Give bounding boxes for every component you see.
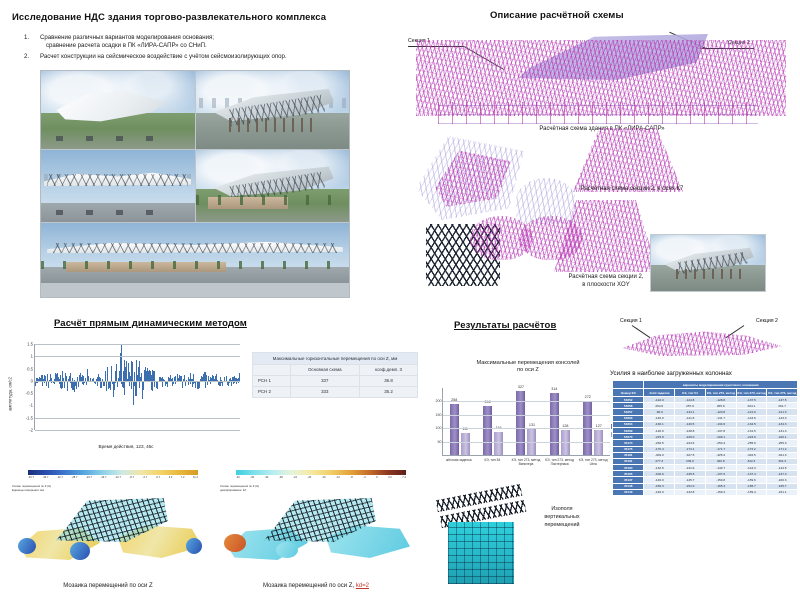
facade-lattice xyxy=(53,243,336,253)
row-label: РСН 2 xyxy=(253,386,291,397)
bullet-subtext: сравнение расчета осадки в ПК «ЛИРА-САПР… xyxy=(40,42,388,50)
mosaic-displacement-z: -40.7-36.7-32.7-28.7-24.7-16.7-12.7-8.7-… xyxy=(8,468,208,590)
accelerogram-chart: амплитуда, см/с2 1.510.50-0.5-1-1.5-2 Вр… xyxy=(8,340,244,452)
mosaic-displacement-z-kd2: -40-36-32-28-24-20-16-12-8-403.27.4 Схем… xyxy=(216,468,416,590)
bar-value-label: 131 xyxy=(529,423,535,427)
bar: 327 xyxy=(516,391,525,455)
category-label: КЭ, тип 273, метод Пастернака xyxy=(543,458,577,484)
waveform-bar xyxy=(239,373,240,380)
cantilever-displacement-chart: 258111248116327131314128272127 501001502… xyxy=(426,384,632,484)
facade-lattice xyxy=(47,174,188,186)
bar-chart-category-labels: жёсткая заделкаКЭ, тип 54КЭ, тип 273, ме… xyxy=(442,458,610,484)
list-item: 1. Сравнение различных вариантов моделир… xyxy=(24,34,388,50)
grid-line xyxy=(443,428,610,429)
section-displacement-mosaics: -40.7-36.7-32.7-28.7-24.7-16.7-12.7-8.7-… xyxy=(4,468,424,600)
cell-value: -143.8 xyxy=(675,489,706,495)
results-subtitle: Максимальные перемещения консолей по оси… xyxy=(428,360,628,375)
scale-tick-label: 0 xyxy=(376,476,377,481)
cell-value: -161.1 xyxy=(767,489,798,495)
y-axis-tick: -1 xyxy=(29,403,33,408)
bar-group: 314128 xyxy=(550,388,570,455)
bar: 116 xyxy=(494,432,503,455)
column-header: КЭ, тип 273, метод Винклера xyxy=(705,389,736,397)
y-axis-tick: 0.5 xyxy=(27,366,33,371)
cell-value: -159.4 xyxy=(736,489,767,495)
scale-tick-label: -40.7 xyxy=(28,476,34,481)
color-scale-bar xyxy=(236,470,406,475)
bigtable-title: Усилия в наиболее загруженных колоннах xyxy=(610,370,732,377)
bar: 111 xyxy=(461,433,470,455)
color-scale-ticks: -40.7-36.7-32.7-28.7-24.7-16.7-12.7-8.7-… xyxy=(28,476,198,481)
column-header-main-scheme: Основная схема xyxy=(290,364,360,375)
mosaic-caption-text: Мозаика перемещений по оси Z, xyxy=(263,583,356,589)
waveform-bar xyxy=(205,381,206,388)
table-row: 45140-146.0-143.8-159.4-159.4-161.1 xyxy=(613,489,798,495)
scale-tick-label: -36 xyxy=(250,476,254,481)
category-label: КЭ, тип 273, метод Винклера xyxy=(509,458,543,484)
table-row: РСН 2 333 35.2 xyxy=(253,386,418,397)
scale-tick-label: -4 xyxy=(363,476,365,481)
list-item: 2. Расчет конструкции на сейсмическое во… xyxy=(24,53,388,61)
bar-groups: 258111248116327131314128272127 xyxy=(443,388,610,455)
y-axis-tick: -2 xyxy=(29,428,33,433)
section-results: Результаты расчётов Секция 1 Секция 2 Ма… xyxy=(424,316,800,602)
bullet-number: 1. xyxy=(24,34,29,42)
plate-orange-zone xyxy=(224,534,246,552)
waveform-bar xyxy=(111,366,112,381)
bar-value-label: 327 xyxy=(518,385,524,389)
grid-line xyxy=(35,430,240,431)
waveform-bar xyxy=(76,381,77,389)
grid-line xyxy=(443,442,610,443)
scale-tick-label: -40 xyxy=(236,476,240,481)
waveform-bar xyxy=(67,381,68,389)
waveform-bar xyxy=(124,381,125,395)
plate-blue-zone-mid xyxy=(70,542,90,560)
scale-tick-label: -16.7 xyxy=(101,476,107,481)
scale-tick-label: -4.7 xyxy=(143,476,147,481)
waveform-bar xyxy=(64,381,65,388)
bar-group: 272127 xyxy=(583,388,603,455)
section-direct-dynamic-method: Расчёт прямым динамическим методом ампли… xyxy=(4,318,424,468)
column-forces-table: варианты моделирования грунтового основа… xyxy=(612,380,798,496)
accelerogram-ylabel: амплитуда, см/с2 xyxy=(8,377,13,411)
cell-value: -159.4 xyxy=(705,489,736,495)
table-header: Максимальные горизонтальные перемещения … xyxy=(253,353,418,365)
trees xyxy=(41,261,349,269)
bullet-text: Сравнение различных вариантов моделирова… xyxy=(40,34,214,41)
cell-value: 36.8 xyxy=(360,375,418,386)
scale-tick-label: -12.7 xyxy=(115,476,121,481)
table-row: РСН 1 337 36.8 xyxy=(253,375,418,386)
y-axis-tick: 1.5 xyxy=(27,342,33,347)
grid-line xyxy=(443,401,610,402)
bar-value-label: 272 xyxy=(585,395,591,399)
max-displacement-table: Максимальные горизонтальные перемещения … xyxy=(252,352,418,398)
support-piers xyxy=(676,269,742,279)
bar: 258 xyxy=(450,404,459,455)
plate-blue-zone-left xyxy=(18,538,36,554)
scale-tick-label: -12 xyxy=(336,476,340,481)
photo-building-realization xyxy=(650,234,766,292)
bar-chart-plot-area: 258111248116327131314128272127 501001502… xyxy=(442,388,610,456)
fem-foundation-grid xyxy=(438,102,758,124)
waveform-bar xyxy=(152,381,153,391)
bar-value-label: 314 xyxy=(551,387,557,391)
category-label: КЭ, тип 54 xyxy=(476,458,510,484)
waveform-bar xyxy=(107,367,108,381)
mosaic-render xyxy=(222,494,412,566)
waveform-bar xyxy=(123,381,124,388)
note-line-2: Единицы измерения: мм xyxy=(12,488,51,492)
section-b-title: Описание расчётной схемы xyxy=(490,10,624,21)
ground xyxy=(41,113,195,149)
scale-tick-label: 7.4 xyxy=(402,476,406,481)
bar-group: 248116 xyxy=(483,388,503,455)
table-body: 54652-122.0-124.8-128.8-137.5-137.554658… xyxy=(613,397,798,496)
row-id: 45140 xyxy=(613,489,644,495)
section-a-title: Исследование НДС здания торгово-развлека… xyxy=(12,12,326,23)
scale-tick-label: -28 xyxy=(279,476,283,481)
mosaic-render xyxy=(14,494,204,566)
waveform-bar xyxy=(121,345,122,381)
cars xyxy=(56,210,163,215)
row-label: РСН 1 xyxy=(253,375,291,386)
mosaic-note: Схема: перемещения по Z (G) Единицы изме… xyxy=(12,484,51,492)
scale-tick-label: 11.2 xyxy=(193,476,198,481)
render-street-view xyxy=(41,150,195,222)
cell-value: 337 xyxy=(290,375,360,386)
waveform-bar xyxy=(132,362,133,380)
objectives-list: 1. Сравнение различных вариантов моделир… xyxy=(24,34,388,65)
waveform-bar xyxy=(193,374,194,381)
mosaic-caption-kd: kd=2 xyxy=(356,583,369,589)
isopole-line-1: Изополя xyxy=(516,506,608,514)
y-axis-tick: 0 xyxy=(31,378,33,383)
grid-line xyxy=(443,415,610,416)
architectural-renders-grid xyxy=(40,70,350,298)
waveform-bar xyxy=(143,381,144,390)
waveform-bar xyxy=(70,373,71,380)
cars xyxy=(56,136,163,141)
accelerogram-plot-area: 1.510.50-0.5-1-1.5-2 xyxy=(34,344,240,430)
group-header: варианты моделирования грунтового основа… xyxy=(644,381,798,389)
render-plan-view xyxy=(41,71,195,149)
plate-blue-zone-right xyxy=(186,538,202,554)
isopole-vertical-block xyxy=(448,522,514,584)
corner-cell xyxy=(613,381,644,389)
waveform-bar xyxy=(154,371,155,381)
plate-cyan-zone xyxy=(276,542,298,558)
trees xyxy=(196,195,350,204)
bar-group: 258111 xyxy=(450,388,470,455)
scale-tick-label: -0.7 xyxy=(156,476,160,481)
render-cantilever-view xyxy=(196,150,350,222)
y-axis-tick: 200 xyxy=(436,399,442,403)
y-axis-tick: -0.5 xyxy=(26,391,33,396)
section-calculation-scheme: Описание расчётной схемы Секция 1 Секция… xyxy=(398,6,798,314)
scale-tick-label: -36.7 xyxy=(43,476,49,481)
column-header-damping: коэф.демп. 3 xyxy=(360,364,418,375)
cell-value: 333 xyxy=(290,386,360,397)
bar-group: 327131 xyxy=(516,388,536,455)
section-investigation: Исследование НДС здания торгово-развлека… xyxy=(10,8,390,308)
y-axis-tick: 1 xyxy=(31,354,33,359)
y-axis-tick: 50 xyxy=(438,440,442,444)
grid-line xyxy=(35,356,240,357)
section-c-title: Расчёт прямым динамическим методом xyxy=(54,318,247,329)
color-scale-bar xyxy=(28,470,198,475)
cell-value: 35.2 xyxy=(360,386,418,397)
mosaic-caption: Мозаика перемещений по оси Z, kd=2 xyxy=(216,583,416,591)
waveform-bar xyxy=(139,381,140,388)
scale-tick-label: -24.7 xyxy=(86,476,92,481)
scale-tick-label: -20 xyxy=(307,476,311,481)
accelerogram-xlabel: Время действия, 123, 46с xyxy=(99,444,154,449)
y-axis-tick: 100 xyxy=(436,426,442,430)
scale-tick-label: -28.7 xyxy=(72,476,78,481)
mosaic-note: Схема: перемещения по Z (G) демпфировани… xyxy=(220,484,259,492)
scale-tick-label: 7.2 xyxy=(181,476,185,481)
waveform-bar xyxy=(136,381,137,396)
column-header-empty xyxy=(253,364,291,375)
leader-line-1 xyxy=(632,325,651,338)
caption-section2-k7: Расчётная схема секции 2, в осях К7 xyxy=(538,186,726,194)
column-header: Номер КЭ xyxy=(613,389,644,397)
waveform-bar xyxy=(157,381,158,388)
color-scale-ticks: -40-36-32-28-24-20-16-12-8-403.27.4 xyxy=(236,476,406,481)
note-line-2: демпфирование: kd xyxy=(220,488,259,492)
category-label: жёсткая заделка xyxy=(442,458,476,484)
bar: 248 xyxy=(483,406,492,455)
bar-value-label: 128 xyxy=(562,424,568,428)
bullet-text: Расчет конструкции на сейсмическое возде… xyxy=(40,53,287,60)
scale-tick-label: -32 xyxy=(265,476,269,481)
scale-tick-label: -8 xyxy=(350,476,352,481)
render-panorama xyxy=(41,223,349,283)
scale-tick-label: 3.2 xyxy=(169,476,173,481)
bar: 128 xyxy=(561,430,570,455)
section-e-title: Результаты расчётов xyxy=(454,320,556,331)
scale-tick-label: 3.2 xyxy=(388,476,392,481)
label-section-1: Секция 1 xyxy=(620,318,642,324)
y-axis-tick: 150 xyxy=(436,413,442,417)
render-facade-truss xyxy=(196,71,350,149)
scale-tick-label: -24 xyxy=(293,476,297,481)
isopole-line-2: вертикальных xyxy=(516,514,608,522)
grid-line xyxy=(35,344,240,345)
column-header: Joint заделка xyxy=(644,389,675,397)
support-piers xyxy=(229,118,318,132)
category-label: КЭ, тип 273, метод Ubra xyxy=(576,458,610,484)
bullet-number: 2. xyxy=(24,53,29,61)
subtitle-line-2: по оси Z xyxy=(428,367,628,374)
y-axis-tick: -1.5 xyxy=(26,415,33,420)
cell-value: -146.0 xyxy=(644,489,675,495)
grid-line xyxy=(35,418,240,419)
isopole-line-3: перемещений xyxy=(516,522,608,530)
column-header: КЭ, тип 273, метод Пастернака xyxy=(736,389,767,397)
scale-tick-label: -16 xyxy=(322,476,326,481)
label-section-2: Секция 2 xyxy=(756,318,778,324)
scale-tick-label: -32.7 xyxy=(57,476,63,481)
waveform-bar xyxy=(62,381,63,388)
table-header-row: Номер КЭJoint заделкаКЭ, тип 54КЭ, тип 2… xyxy=(613,389,798,397)
presentation-slide: Исследование НДС здания торгово-развлека… xyxy=(0,0,800,602)
scale-tick-label: -8.7 xyxy=(130,476,134,481)
subtitle-line-1: Максимальные перемещения консолей xyxy=(428,360,628,367)
fem-model-cloud-right xyxy=(520,216,582,260)
isopole-caption: Изополя вертикальных перемещений xyxy=(516,506,608,529)
column-header: КЭ, тип 273, метод Бусова-Уфаева xyxy=(767,389,798,397)
fem-model-section2-k7 xyxy=(568,128,688,192)
bar: 127 xyxy=(594,430,603,455)
column-header: КЭ, тип 54 xyxy=(675,389,706,397)
mosaic-caption: Мозаика перемещений по оси Z xyxy=(8,583,208,591)
grid-line xyxy=(35,381,240,382)
bar: 314 xyxy=(550,393,559,455)
fem-model-results-overview: Секция 1 Секция 2 xyxy=(614,318,794,360)
